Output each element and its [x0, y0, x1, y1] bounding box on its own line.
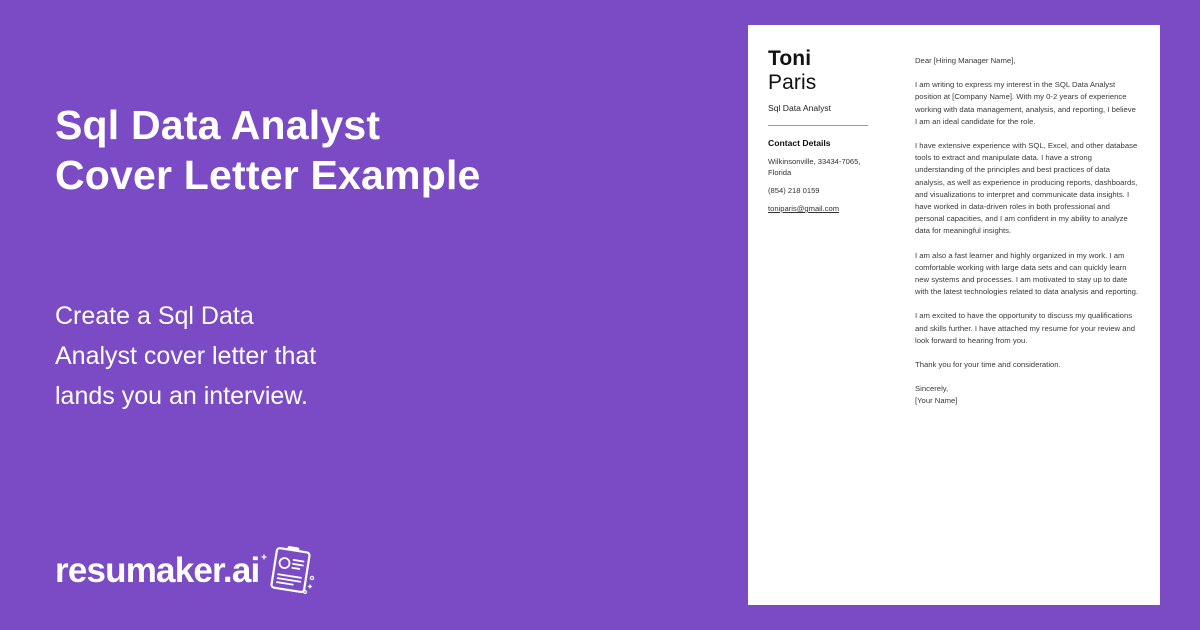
- headline-line-1: Sql Data Analyst: [55, 100, 655, 150]
- promo-copy-panel: Sql Data Analyst Cover Letter Example Cr…: [55, 0, 675, 630]
- subhead-line-2: Analyst cover letter that: [55, 336, 475, 376]
- contact-address: Wilkinsonville, 33434-7065, Florida: [768, 156, 880, 178]
- subhead-line-3: lands you an interview.: [55, 376, 475, 416]
- applicant-first-name: Toni: [768, 47, 880, 71]
- brand-logo: resumaker.ai: [55, 545, 316, 595]
- contact-email-link[interactable]: toniparis@gmail.com: [768, 203, 880, 214]
- page-title: Sql Data Analyst Cover Letter Example: [55, 100, 655, 200]
- resume-card-icon: [260, 544, 316, 596]
- letter-paragraph: I have extensive experience with SQL, Ex…: [915, 140, 1139, 238]
- applicant-role: Sql Data Analyst: [768, 102, 880, 114]
- brand-wordmark: resumaker.ai: [55, 553, 259, 588]
- page-subtitle: Create a Sql Data Analyst cover letter t…: [55, 296, 475, 416]
- contact-heading: Contact Details: [768, 137, 880, 149]
- applicant-last-name: Paris: [768, 71, 880, 95]
- letter-signature: [Your Name]: [915, 395, 1139, 407]
- letter-salutation: Dear [Hiring Manager Name],: [915, 55, 1139, 67]
- letter-closing: Sincerely,: [915, 383, 1139, 395]
- subhead-line-1: Create a Sql Data: [55, 296, 475, 336]
- headline-line-2: Cover Letter Example: [55, 150, 655, 200]
- letter-paragraph: I am excited to have the opportunity to …: [915, 310, 1139, 347]
- letter-paragraph: I am also a fast learner and highly orga…: [915, 250, 1139, 299]
- letterhead-column: Toni Paris Sql Data Analyst Contact Deta…: [768, 47, 880, 214]
- letterhead-divider: [768, 125, 868, 126]
- letter-thank-you: Thank you for your time and consideratio…: [915, 359, 1139, 371]
- contact-phone: (854) 218 0159: [768, 185, 880, 196]
- promo-banner: Sql Data Analyst Cover Letter Example Cr…: [0, 0, 1200, 630]
- cover-letter-preview[interactable]: Toni Paris Sql Data Analyst Contact Deta…: [748, 25, 1160, 605]
- letter-body-column: Dear [Hiring Manager Name], I am writing…: [915, 55, 1139, 408]
- letter-paragraph: I am writing to express my interest in t…: [915, 79, 1139, 128]
